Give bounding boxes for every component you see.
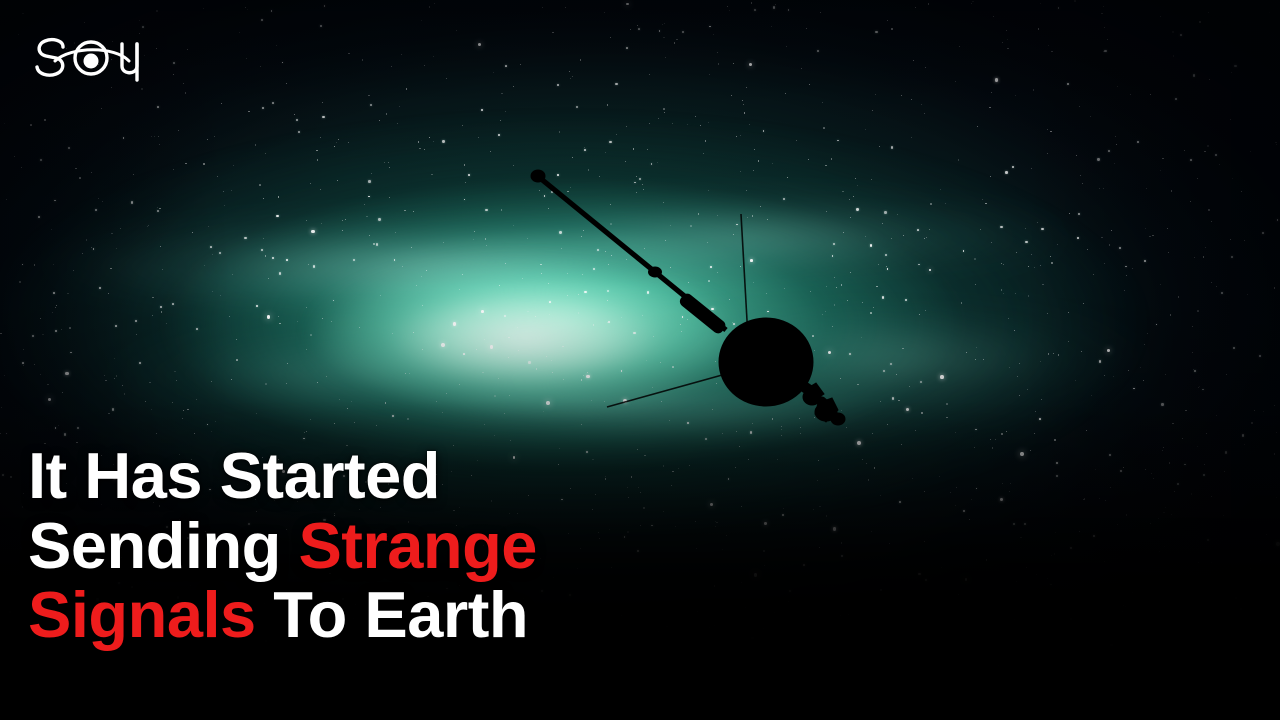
star [321, 223, 322, 224]
star [872, 433, 873, 434]
star [822, 314, 823, 315]
star [354, 422, 355, 423]
star [1093, 274, 1094, 275]
star [818, 460, 819, 461]
star [919, 314, 920, 315]
star [567, 191, 568, 192]
star [826, 211, 827, 212]
star [972, 1, 974, 3]
star [172, 303, 174, 305]
star [1083, 303, 1084, 304]
star [1028, 295, 1029, 296]
star [1099, 360, 1101, 362]
star [1049, 691, 1051, 693]
star [536, 368, 537, 369]
star [1259, 355, 1261, 357]
star [1038, 28, 1040, 30]
star [1191, 493, 1193, 495]
star [158, 136, 159, 137]
star [1117, 86, 1118, 87]
star [658, 118, 659, 119]
star [833, 527, 837, 531]
star [0, 333, 1, 334]
star [306, 431, 307, 432]
star [165, 655, 167, 657]
star [916, 637, 917, 638]
star [156, 433, 157, 434]
star [397, 123, 398, 124]
star [351, 401, 352, 402]
star [4, 375, 5, 376]
star [1247, 294, 1248, 295]
star [10, 476, 11, 477]
star [204, 265, 205, 266]
star [485, 209, 487, 211]
logo-planet-dot [84, 54, 99, 69]
star [1036, 574, 1037, 575]
star [492, 694, 494, 696]
star [310, 334, 312, 336]
star [823, 127, 825, 129]
star [14, 156, 15, 157]
star [334, 146, 335, 147]
star [1240, 608, 1242, 610]
star [1165, 374, 1166, 375]
star [1276, 542, 1280, 546]
star [159, 144, 160, 145]
star [4, 123, 5, 124]
star [208, 226, 209, 227]
star [946, 403, 948, 405]
star [743, 104, 744, 105]
star [542, 7, 543, 8]
star [1145, 469, 1147, 471]
star [676, 39, 678, 41]
star [598, 683, 599, 684]
star [1194, 370, 1196, 372]
star [58, 425, 59, 426]
star [841, 410, 842, 411]
star [857, 384, 858, 385]
star [282, 62, 284, 64]
star [687, 319, 688, 320]
star [508, 337, 510, 339]
star [848, 614, 849, 615]
star [462, 274, 463, 275]
star [1002, 42, 1003, 43]
star [67, 293, 68, 294]
star [570, 187, 571, 188]
star [971, 3, 972, 4]
star [593, 324, 595, 326]
star [1184, 150, 1185, 151]
star [56, 305, 57, 306]
star [320, 25, 322, 27]
star [203, 163, 204, 164]
star [1101, 13, 1102, 14]
star [484, 339, 485, 340]
star [777, 358, 779, 360]
star [785, 662, 787, 664]
star [819, 506, 820, 507]
star [608, 321, 610, 323]
star [976, 347, 977, 348]
star [1231, 72, 1232, 73]
star [661, 401, 662, 402]
star [320, 137, 321, 138]
star [1050, 256, 1051, 257]
star [187, 409, 189, 411]
star [115, 325, 117, 327]
star [814, 350, 815, 351]
star [1198, 387, 1199, 388]
star [446, 78, 447, 79]
star [1034, 267, 1035, 268]
star [371, 173, 372, 174]
headline-line-1: It Has Started [28, 444, 808, 514]
star [1101, 237, 1102, 238]
star [326, 376, 327, 377]
star [733, 63, 734, 64]
star [505, 111, 506, 112]
star [469, 175, 470, 176]
star [809, 84, 810, 85]
star [663, 37, 664, 38]
star [342, 230, 343, 231]
star [840, 615, 841, 616]
star [462, 125, 463, 126]
star [990, 176, 991, 177]
star [384, 162, 385, 163]
star [2, 474, 4, 476]
star [1012, 166, 1014, 168]
star [642, 315, 643, 316]
star [680, 324, 681, 325]
star [12, 705, 13, 706]
star [1057, 244, 1058, 245]
star [1172, 31, 1173, 32]
star [247, 9, 248, 10]
star [408, 691, 409, 692]
star [672, 123, 673, 124]
star [114, 378, 115, 379]
star [753, 170, 754, 171]
star [244, 681, 246, 683]
star [272, 257, 274, 259]
star [133, 174, 134, 175]
star [433, 56, 434, 57]
star [1070, 618, 1072, 620]
star [348, 53, 350, 55]
star [610, 37, 611, 38]
star [548, 208, 549, 209]
star [992, 447, 994, 449]
star [271, 10, 273, 12]
star [1266, 534, 1267, 535]
star [1006, 431, 1007, 432]
star [883, 370, 885, 372]
star [588, 169, 590, 171]
star [256, 305, 258, 307]
sou-logo[interactable] [33, 30, 161, 90]
star [750, 431, 752, 433]
star [22, 264, 24, 266]
star [763, 130, 765, 132]
star [91, 172, 92, 173]
star [1230, 239, 1232, 241]
star [1177, 483, 1179, 485]
star [527, 238, 528, 239]
star [740, 171, 741, 172]
star [232, 274, 233, 275]
star [855, 178, 856, 179]
star [1169, 462, 1170, 463]
star [736, 136, 737, 137]
star [422, 305, 423, 306]
star [259, 680, 261, 682]
star [276, 45, 277, 46]
star [651, 163, 653, 165]
star [1180, 34, 1182, 36]
star [298, 131, 300, 133]
star [870, 312, 872, 314]
star [1208, 12, 1209, 13]
star [498, 134, 500, 136]
star [1019, 395, 1020, 396]
star [581, 424, 582, 425]
star [1068, 312, 1070, 314]
star [55, 427, 57, 429]
star [161, 311, 162, 312]
star [65, 372, 68, 375]
star [101, 108, 102, 109]
star [834, 277, 835, 278]
star [713, 34, 714, 35]
star [695, 116, 696, 117]
star [347, 408, 348, 409]
star [801, 68, 802, 69]
star [846, 427, 847, 428]
star [649, 74, 650, 75]
star [709, 26, 711, 28]
star [104, 375, 105, 376]
star [1193, 369, 1194, 370]
star [1020, 452, 1024, 456]
star [1069, 213, 1070, 214]
star [825, 311, 826, 312]
star [1130, 94, 1131, 95]
star [1047, 129, 1048, 130]
star [746, 87, 747, 88]
star [940, 189, 942, 191]
star [368, 95, 370, 97]
star [969, 519, 970, 520]
star [211, 381, 212, 382]
star [1277, 219, 1279, 221]
star [841, 542, 843, 544]
star [712, 409, 713, 410]
star [465, 182, 466, 183]
star [30, 124, 32, 126]
star [974, 258, 976, 260]
star [887, 424, 888, 425]
star [21, 167, 22, 168]
star [536, 679, 538, 681]
star [262, 107, 264, 109]
star [111, 233, 113, 235]
star [1152, 235, 1153, 236]
star [388, 162, 389, 163]
star [1260, 560, 1261, 561]
star [1225, 451, 1227, 453]
star [618, 712, 619, 713]
star [173, 74, 174, 75]
star [389, 167, 390, 168]
star [1110, 487, 1111, 488]
star [294, 114, 295, 115]
star [625, 161, 626, 162]
star [40, 159, 42, 161]
star [276, 215, 278, 217]
star [261, 19, 263, 21]
star [1140, 367, 1141, 368]
star [1185, 410, 1186, 411]
star [556, 664, 557, 665]
star [749, 63, 752, 66]
star [552, 372, 553, 373]
star [871, 179, 872, 180]
star [1033, 89, 1034, 90]
star [1199, 21, 1200, 22]
star [819, 547, 820, 548]
star [865, 236, 867, 238]
star [639, 178, 641, 180]
star [1048, 353, 1049, 354]
star [324, 5, 326, 7]
star [261, 249, 263, 251]
star [921, 412, 922, 413]
star [583, 230, 584, 231]
star [1204, 151, 1205, 152]
star [672, 366, 674, 368]
star [1211, 562, 1212, 563]
star [1031, 254, 1032, 255]
star [879, 146, 880, 147]
star [116, 248, 117, 249]
star [1006, 30, 1007, 31]
star [1251, 422, 1252, 423]
star [154, 136, 155, 137]
star [765, 335, 767, 337]
star [746, 396, 747, 397]
star [1108, 667, 1110, 669]
star [286, 383, 287, 384]
star [892, 397, 894, 399]
star [34, 264, 35, 265]
star [1158, 518, 1159, 519]
star [1079, 531, 1080, 532]
star [79, 177, 81, 179]
star [1204, 464, 1205, 465]
star [1067, 83, 1069, 85]
star [878, 264, 879, 265]
star [1002, 483, 1003, 484]
star [185, 163, 186, 164]
star [48, 398, 51, 401]
star [615, 83, 617, 85]
star [584, 291, 586, 293]
star [110, 268, 112, 270]
star [528, 361, 530, 363]
star [880, 589, 881, 590]
star [38, 216, 40, 218]
star [345, 219, 346, 220]
star [886, 266, 887, 267]
star [22, 13, 24, 15]
star [1093, 535, 1096, 538]
star [991, 92, 992, 93]
star [593, 268, 595, 270]
star [717, 272, 718, 273]
star [23, 349, 24, 350]
star [758, 160, 759, 161]
star [1224, 471, 1225, 472]
star [368, 180, 370, 182]
star [600, 665, 601, 666]
star [354, 704, 357, 707]
star [1031, 168, 1032, 169]
star [665, 57, 666, 58]
star [836, 287, 837, 288]
star [1170, 314, 1172, 316]
star [889, 543, 890, 544]
star [1197, 619, 1198, 620]
star [897, 214, 898, 215]
star [1133, 388, 1135, 390]
star [648, 266, 649, 267]
star [1276, 144, 1277, 145]
star [572, 76, 573, 77]
star [51, 229, 52, 230]
star [69, 327, 71, 329]
star [473, 239, 474, 240]
star [821, 665, 823, 667]
star [920, 381, 922, 383]
star [834, 304, 835, 305]
star [212, 254, 213, 255]
star [1244, 444, 1245, 445]
star [956, 487, 957, 488]
star [1003, 293, 1005, 295]
star [139, 362, 141, 364]
star [708, 280, 710, 282]
star [736, 703, 737, 704]
star [665, 240, 666, 241]
star [44, 119, 45, 120]
star [915, 430, 916, 431]
star [580, 59, 581, 60]
star [75, 168, 76, 169]
star [687, 422, 689, 424]
star [501, 93, 503, 95]
star [608, 264, 609, 265]
star [882, 223, 883, 224]
star [1019, 363, 1020, 364]
star [638, 28, 640, 30]
star [663, 108, 665, 110]
star [980, 229, 981, 230]
star [481, 109, 483, 111]
